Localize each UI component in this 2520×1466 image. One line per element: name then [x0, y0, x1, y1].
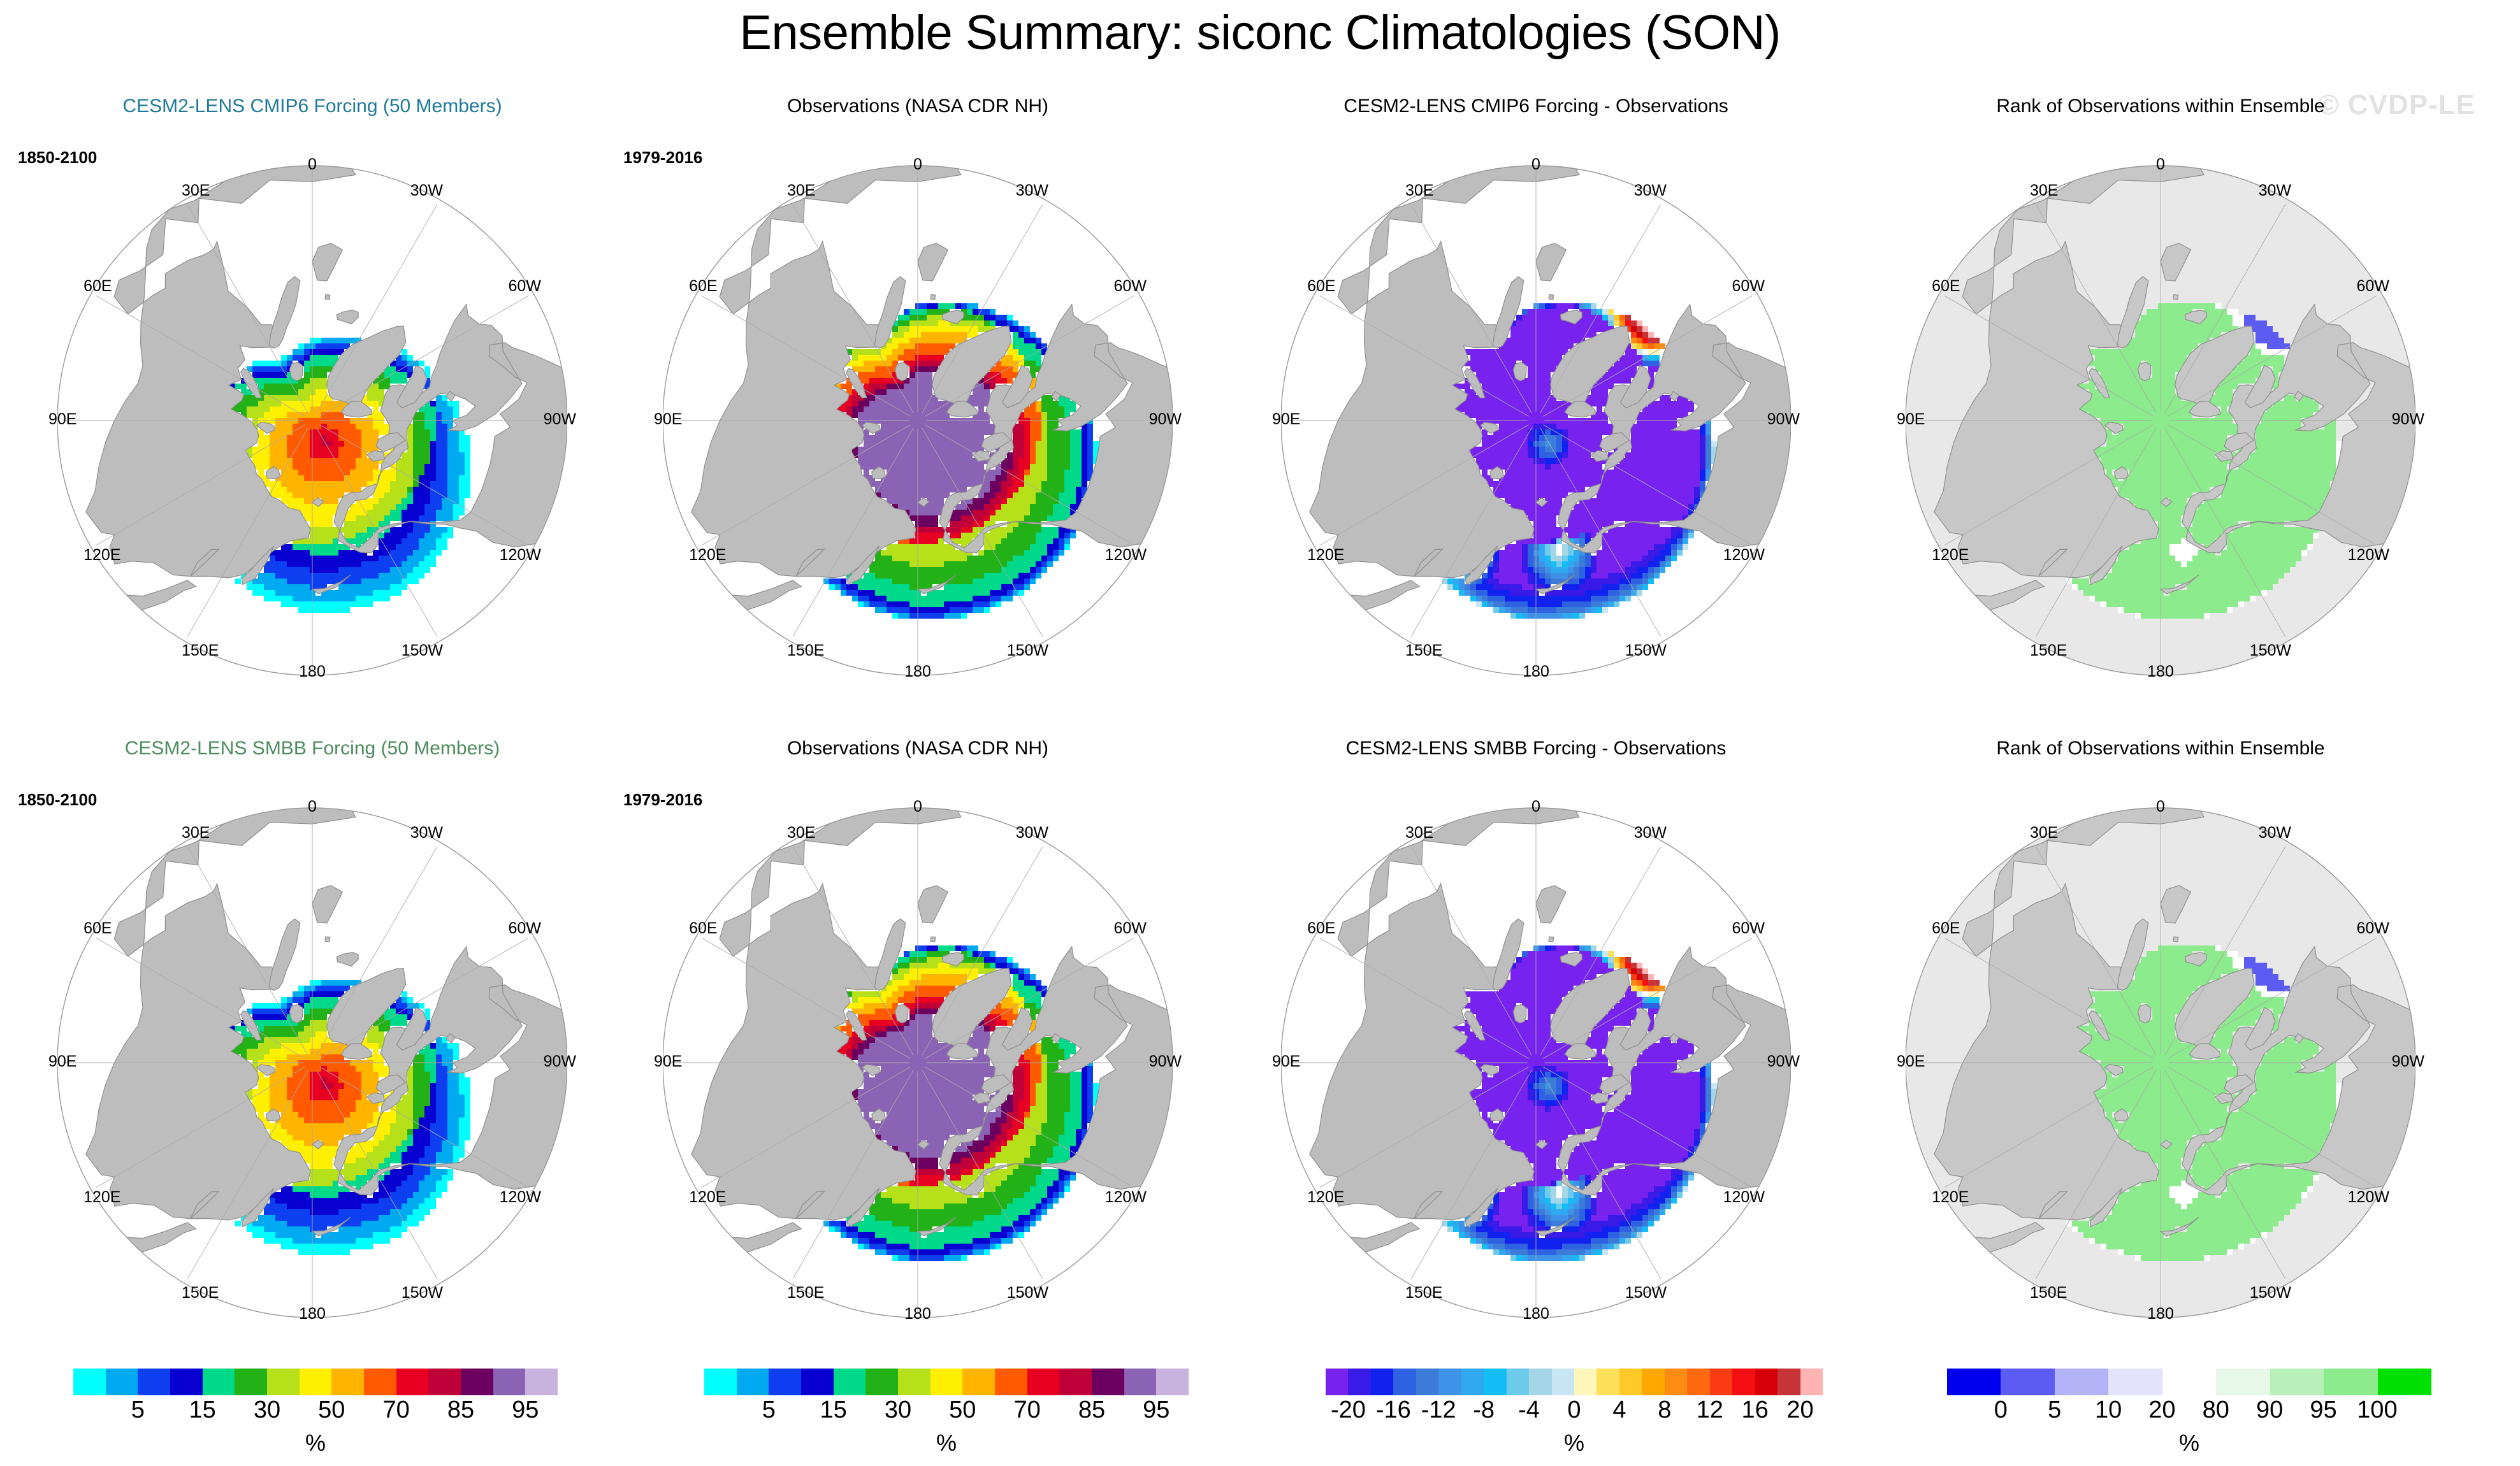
panel-title-obs-cmip6: Observations (NASA CDR NH)	[612, 96, 1224, 117]
lon-label-upper_right: 150E	[787, 642, 824, 660]
lon-label-upper_left: 150W	[1007, 1284, 1048, 1302]
polar-map-diff-cmip6	[1281, 131, 1791, 691]
colorbar-difference-2: -20-16-12-8-4048121620%	[1326, 1369, 1823, 1430]
lon-label-left_90: 90W	[544, 410, 576, 429]
lon-label-left_60: 60W	[509, 277, 541, 296]
colorbar-swatch	[834, 1369, 866, 1395]
lon-label-bottom: 0	[1532, 155, 1540, 174]
lon-label-left_60: 60W	[1114, 277, 1147, 296]
colorbar-tick-label: 5	[131, 1397, 145, 1424]
map-container-model-cmip6	[57, 131, 567, 691]
colorbar-swatch	[461, 1369, 493, 1395]
colorbar-swatch	[1552, 1369, 1574, 1395]
colorbar-tick-label: 12	[1697, 1397, 1723, 1424]
lon-label-bottom: 0	[1532, 798, 1540, 816]
colorbar-tick-label: 0	[1994, 1397, 2008, 1424]
colorbar-tick-label: 30	[885, 1397, 911, 1424]
colorbar-ticks-rank-3: 051020809095100	[1947, 1395, 2431, 1430]
colorbar-swatch	[931, 1369, 963, 1395]
lon-label-right_90: 90E	[48, 410, 76, 429]
map-container-rank-cmip6	[1906, 131, 2415, 691]
colorbar-swatch	[865, 1369, 898, 1395]
colorbar-tick-label: 95	[512, 1397, 539, 1424]
panel-obs-cmip6: Observations (NASA CDR NH)1979-201618015…	[612, 96, 1224, 768]
colorbar-swatch	[769, 1369, 801, 1395]
lon-label-left_30: 30W	[1016, 182, 1048, 200]
colorbar-tick-label: -16	[1376, 1397, 1411, 1424]
colorbar-swatch	[267, 1369, 300, 1395]
lon-label-right_30: 30E	[2030, 182, 2058, 200]
map-container-obs-cmip6	[663, 131, 1173, 691]
panel-rank-smbb: Rank of Observations within Ensemble1801…	[1855, 738, 2466, 1410]
colorbar-tick-label: 30	[254, 1397, 280, 1424]
colorbar-swatch	[1800, 1369, 1823, 1395]
colorbar-swatch	[1732, 1369, 1755, 1395]
colorbar-swatch	[1574, 1369, 1597, 1395]
lon-label-left_60: 60W	[2357, 919, 2389, 938]
map-container-diff-smbb	[1281, 773, 1791, 1333]
colorbar-strip-concentration-0	[73, 1369, 558, 1395]
lon-label-right_60: 60E	[1307, 277, 1335, 296]
colorbar-rank-3: 051020809095100%	[1947, 1369, 2431, 1430]
lon-label-right_120: 120E	[689, 546, 726, 564]
lon-label-bottom: 0	[2156, 798, 2165, 816]
colorbar-swatch	[300, 1369, 332, 1395]
colorbar-swatch	[1597, 1369, 1619, 1395]
colorbar-tick-label: 5	[762, 1397, 776, 1424]
polar-map-model-smbb	[57, 773, 567, 1333]
lon-label-right_90: 90E	[48, 1053, 76, 1071]
colorbar-swatch	[1124, 1369, 1157, 1395]
colorbar-tick-label: 95	[2310, 1397, 2336, 1424]
panel-title-diff-cmip6: CESM2-LENS CMIP6 Forcing - Observations	[1230, 96, 1842, 117]
colorbar-swatch	[396, 1369, 429, 1395]
colorbar-swatch	[1778, 1369, 1800, 1395]
colorbar-strip-rank-3	[1947, 1369, 2431, 1395]
lon-label-left_90: 90W	[544, 1053, 576, 1071]
colorbar-swatch	[737, 1369, 769, 1395]
colorbar-swatch	[2055, 1369, 2108, 1395]
colorbar-tick-label: 8	[1658, 1397, 1671, 1424]
colorbar-swatch	[428, 1369, 461, 1395]
page-title: Ensemble Summary: siconc Climatologies (…	[0, 5, 2520, 61]
lon-label-bottom: 0	[308, 155, 317, 174]
lon-label-bottom: 0	[913, 155, 922, 174]
colorbar-swatch	[1092, 1369, 1124, 1395]
lon-label-right_30: 30E	[182, 182, 210, 200]
colorbar-tick-label: 15	[189, 1397, 215, 1424]
lon-label-right_120: 120E	[83, 1188, 120, 1207]
colorbar-concentration-0: 5153050708595%	[73, 1369, 558, 1430]
lon-label-left_120: 120W	[1105, 1188, 1147, 1207]
lon-label-upper_left: 150W	[2250, 642, 2291, 660]
lon-label-right_120: 120E	[1932, 1188, 1969, 1207]
lon-label-left_90: 90W	[1149, 1053, 1182, 1071]
colorbar-tick-label: 5	[2048, 1397, 2061, 1424]
lon-label-top: 180	[1523, 1305, 1549, 1323]
colorbar-swatch	[995, 1369, 1027, 1395]
lon-label-right_30: 30E	[1405, 182, 1433, 200]
map-container-rank-smbb	[1906, 773, 2415, 1333]
lon-label-upper_right: 150E	[182, 642, 219, 660]
lon-label-left_120: 120W	[1723, 1188, 1765, 1207]
colorbar-swatch	[138, 1369, 170, 1395]
polar-map-obs-smbb	[663, 773, 1173, 1333]
colorbar-swatch	[1619, 1369, 1642, 1395]
lon-label-right_30: 30E	[1405, 824, 1433, 842]
lon-label-right_30: 30E	[2030, 824, 2058, 842]
colorbar-swatch	[704, 1369, 737, 1395]
lon-label-left_30: 30W	[1016, 824, 1048, 842]
lon-label-upper_left: 150W	[1007, 642, 1048, 660]
lon-label-left_120: 120W	[1723, 546, 1765, 564]
panel-obs-smbb: Observations (NASA CDR NH)1979-201618015…	[612, 738, 1224, 1410]
lon-label-upper_right: 150E	[1405, 1284, 1442, 1302]
colorbar-tick-label: 16	[1741, 1397, 1768, 1424]
lon-label-left_120: 120W	[500, 546, 541, 564]
lon-label-upper_right: 150E	[787, 1284, 824, 1302]
colorbar-swatch	[1461, 1369, 1484, 1395]
colorbar-tick-label: 50	[949, 1397, 976, 1424]
panel-model-smbb: CESM2-LENS SMBB Forcing (50 Members)1850…	[6, 738, 618, 1410]
colorbar-tick-label: 20	[1786, 1397, 1813, 1424]
lon-label-top: 180	[299, 663, 326, 681]
lon-label-left_30: 30W	[410, 824, 443, 842]
lon-label-right_60: 60E	[1932, 919, 1960, 938]
lon-label-upper_left: 150W	[2250, 1284, 2291, 1302]
colorbar-unit-concentration-0: %	[73, 1430, 558, 1456]
lon-label-left_30: 30W	[410, 182, 443, 200]
lon-label-upper_left: 150W	[1625, 1284, 1667, 1302]
colorbar-swatch	[525, 1369, 558, 1395]
colorbar-tick-label: 95	[1143, 1397, 1169, 1424]
colorbar-swatch	[235, 1369, 267, 1395]
colorbar-swatch	[1529, 1369, 1551, 1395]
lon-label-right_90: 90E	[1897, 410, 1925, 429]
colorbar-swatch	[1438, 1369, 1461, 1395]
lon-label-bottom: 0	[913, 798, 922, 816]
lon-label-right_120: 120E	[83, 546, 120, 564]
colorbar-unit-rank-3: %	[1947, 1430, 2431, 1456]
lon-label-right_90: 90E	[1272, 410, 1300, 429]
lon-label-top: 180	[1523, 663, 1549, 681]
polar-map-model-cmip6	[57, 131, 567, 691]
lon-label-upper_left: 150W	[1625, 642, 1667, 660]
colorbar-swatch	[1710, 1369, 1732, 1395]
lon-label-right_30: 30E	[182, 824, 210, 842]
lon-label-right_60: 60E	[1932, 277, 1960, 296]
colorbar-swatch	[2270, 1369, 2324, 1395]
colorbar-swatch	[1371, 1369, 1393, 1395]
lon-label-right_60: 60E	[1307, 919, 1335, 938]
colorbar-tick-label: 70	[1013, 1397, 1040, 1424]
lon-label-bottom: 0	[308, 798, 317, 816]
lon-label-left_30: 30W	[1634, 824, 1667, 842]
colorbar-strip-difference-2	[1326, 1369, 1823, 1395]
lon-label-left_30: 30W	[2259, 824, 2291, 842]
colorbar-tick-label: -12	[1421, 1397, 1456, 1424]
panel-title-obs-smbb: Observations (NASA CDR NH)	[612, 738, 1224, 759]
lon-label-left_120: 120W	[500, 1188, 541, 1207]
lon-label-top: 180	[904, 663, 931, 681]
colorbar-swatch	[1156, 1369, 1189, 1395]
polar-map-obs-cmip6	[663, 131, 1173, 691]
colorbar-tick-label: 85	[447, 1397, 474, 1424]
lon-label-bottom: 0	[2156, 155, 2165, 174]
lon-label-right_90: 90E	[654, 1053, 682, 1071]
lon-label-left_90: 90W	[1149, 410, 1182, 429]
lon-label-top: 180	[2147, 663, 2174, 681]
colorbar-swatch	[1393, 1369, 1416, 1395]
colorbar-swatch	[1348, 1369, 1370, 1395]
panel-title-model-smbb: CESM2-LENS SMBB Forcing (50 Members)	[6, 738, 618, 759]
colorbar-ticks-concentration-0: 5153050708595	[73, 1395, 558, 1430]
colorbar-tick-label: 90	[2256, 1397, 2283, 1424]
colorbar-ticks-concentration-1: 5153050708595	[704, 1395, 1189, 1430]
colorbar-ticks-difference-2: -20-16-12-8-4048121620	[1326, 1395, 1823, 1430]
lon-label-right_30: 30E	[787, 182, 815, 200]
colorbar-swatch	[1947, 1369, 2001, 1395]
polar-map-rank-cmip6	[1906, 131, 2415, 691]
colorbar-swatch	[1484, 1369, 1506, 1395]
map-container-obs-smbb	[663, 773, 1173, 1333]
colorbar-swatch	[331, 1369, 364, 1395]
lon-label-left_120: 120W	[2348, 1188, 2389, 1207]
colorbar-swatch	[1642, 1369, 1664, 1395]
lon-label-upper_right: 150E	[2030, 642, 2067, 660]
colorbar-swatch	[2324, 1369, 2377, 1395]
colorbar-swatch	[364, 1369, 396, 1395]
lon-label-right_60: 60E	[689, 919, 717, 938]
panel-title-rank-smbb: Rank of Observations within Ensemble	[1855, 738, 2466, 759]
colorbar-swatch	[1755, 1369, 1778, 1395]
lon-label-left_90: 90W	[2392, 1053, 2424, 1071]
panel-diff-smbb: CESM2-LENS SMBB Forcing - Observations18…	[1230, 738, 1842, 1410]
colorbar-swatch	[801, 1369, 834, 1395]
lon-label-right_120: 120E	[1932, 546, 1969, 564]
lon-label-left_30: 30W	[2259, 182, 2291, 200]
colorbar-tick-label: 0	[1567, 1397, 1581, 1424]
colorbar-swatch	[2378, 1369, 2431, 1395]
colorbar-swatch	[1687, 1369, 1709, 1395]
polar-map-rank-smbb	[1906, 773, 2415, 1333]
colorbar-tick-label: -4	[1518, 1397, 1540, 1424]
lon-label-left_120: 120W	[1105, 546, 1147, 564]
lon-label-left_30: 30W	[1634, 182, 1667, 200]
colorbar-tick-label: 80	[2203, 1397, 2229, 1424]
panel-title-diff-smbb: CESM2-LENS SMBB Forcing - Observations	[1230, 738, 1842, 759]
lon-label-right_90: 90E	[1897, 1053, 1925, 1071]
lon-label-left_60: 60W	[2357, 277, 2389, 296]
colorbar-swatch	[203, 1369, 235, 1395]
lon-label-right_120: 120E	[1307, 1188, 1344, 1207]
colorbar-swatch	[73, 1369, 106, 1395]
lon-label-right_60: 60E	[83, 919, 112, 938]
colorbar-swatch	[1665, 1369, 1687, 1395]
panel-title-rank-cmip6: Rank of Observations within Ensemble	[1855, 96, 2466, 117]
colorbar-swatch	[2001, 1369, 2054, 1395]
panel-diff-cmip6: CESM2-LENS CMIP6 Forcing - Observations1…	[1230, 96, 1842, 768]
lon-label-left_60: 60W	[509, 919, 541, 938]
lon-label-left_90: 90W	[1767, 410, 1800, 429]
map-container-model-smbb	[57, 773, 567, 1333]
lon-label-right_120: 120E	[1307, 546, 1344, 564]
colorbar-swatch	[1416, 1369, 1438, 1395]
colorbar-swatch	[1507, 1369, 1529, 1395]
colorbar-tick-label: 85	[1078, 1397, 1105, 1424]
lon-label-upper_right: 150E	[2030, 1284, 2067, 1302]
lon-label-top: 180	[299, 1305, 326, 1323]
lon-label-left_90: 90W	[1767, 1053, 1800, 1071]
lon-label-right_30: 30E	[787, 824, 815, 842]
colorbar-tick-label: -20	[1331, 1397, 1366, 1424]
lon-label-left_60: 60W	[1114, 919, 1147, 938]
colorbar-unit-difference-2: %	[1326, 1430, 1823, 1456]
panel-rank-cmip6: Rank of Observations within Ensemble1801…	[1855, 96, 2466, 768]
lon-label-right_120: 120E	[689, 1188, 726, 1207]
map-container-diff-cmip6	[1281, 131, 1791, 691]
colorbar-swatch	[2162, 1369, 2216, 1395]
colorbar-swatch	[2216, 1369, 2270, 1395]
colorbar-tick-label: 100	[2357, 1397, 2397, 1424]
colorbar-swatch	[1027, 1369, 1060, 1395]
lon-label-right_90: 90E	[1272, 1053, 1300, 1071]
colorbar-tick-label: 50	[318, 1397, 345, 1424]
colorbar-swatch	[1326, 1369, 1348, 1395]
colorbar-swatch	[962, 1369, 995, 1395]
lon-label-upper_left: 150W	[402, 642, 443, 660]
lon-label-left_90: 90W	[2392, 410, 2424, 429]
lon-label-right_90: 90E	[654, 410, 682, 429]
colorbar-swatch	[106, 1369, 138, 1395]
panel-title-model-cmip6: CESM2-LENS CMIP6 Forcing (50 Members)	[6, 96, 618, 117]
lon-label-left_60: 60W	[1732, 277, 1765, 296]
colorbar-swatch	[1059, 1369, 1092, 1395]
colorbar-tick-label: 15	[820, 1397, 846, 1424]
colorbar-swatch	[2108, 1369, 2162, 1395]
colorbar-concentration-1: 5153050708595%	[704, 1369, 1189, 1430]
lon-label-left_60: 60W	[1732, 919, 1765, 938]
polar-map-diff-smbb	[1281, 773, 1791, 1333]
colorbar-unit-concentration-1: %	[704, 1430, 1189, 1456]
lon-label-right_60: 60E	[83, 277, 112, 296]
colorbar-swatch	[493, 1369, 526, 1395]
colorbar-swatch	[170, 1369, 203, 1395]
colorbar-swatch	[898, 1369, 931, 1395]
lon-label-upper_left: 150W	[402, 1284, 443, 1302]
colorbar-tick-label: -8	[1473, 1397, 1495, 1424]
panel-model-cmip6: CESM2-LENS CMIP6 Forcing (50 Members)185…	[6, 96, 618, 768]
lon-label-top: 180	[904, 1305, 931, 1323]
colorbar-tick-label: 4	[1612, 1397, 1626, 1424]
lon-label-upper_right: 150E	[1405, 642, 1442, 660]
colorbar-strip-concentration-1	[704, 1369, 1189, 1395]
lon-label-right_60: 60E	[689, 277, 717, 296]
colorbar-tick-label: 20	[2148, 1397, 2175, 1424]
lon-label-upper_right: 150E	[182, 1284, 219, 1302]
colorbar-tick-label: 70	[382, 1397, 409, 1424]
colorbar-tick-label: 10	[2095, 1397, 2122, 1424]
lon-label-left_120: 120W	[2348, 546, 2389, 564]
lon-label-top: 180	[2147, 1305, 2174, 1323]
